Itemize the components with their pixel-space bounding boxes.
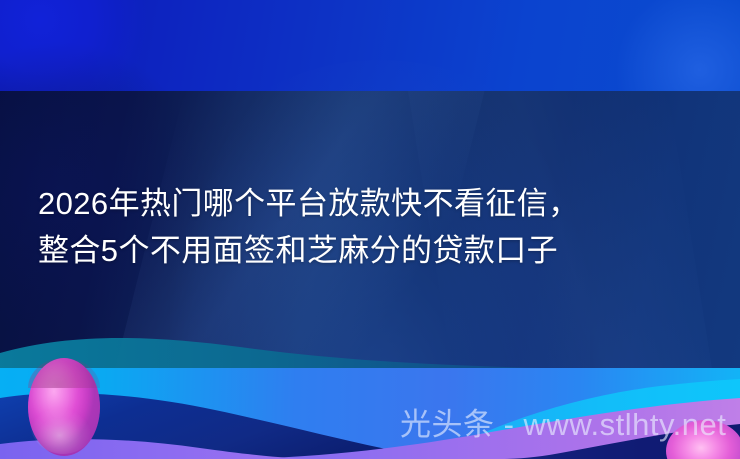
banner-title: 2026年热门哪个平台放款快不看征信， 整合5个不用面签和芝麻分的贷款口子 <box>38 180 710 274</box>
banner-title-line-2: 整合5个不用面签和芝麻分的贷款口子 <box>38 227 710 274</box>
site-watermark: 光头条 - www.stlhty.net <box>400 406 726 444</box>
promo-banner: 2026年热门哪个平台放款快不看征信， 整合5个不用面签和芝麻分的贷款口子 光头… <box>0 0 740 459</box>
banner-title-line-1: 2026年热门哪个平台放款快不看征信， <box>38 180 710 227</box>
pink-egg-left-highlight <box>30 392 96 454</box>
